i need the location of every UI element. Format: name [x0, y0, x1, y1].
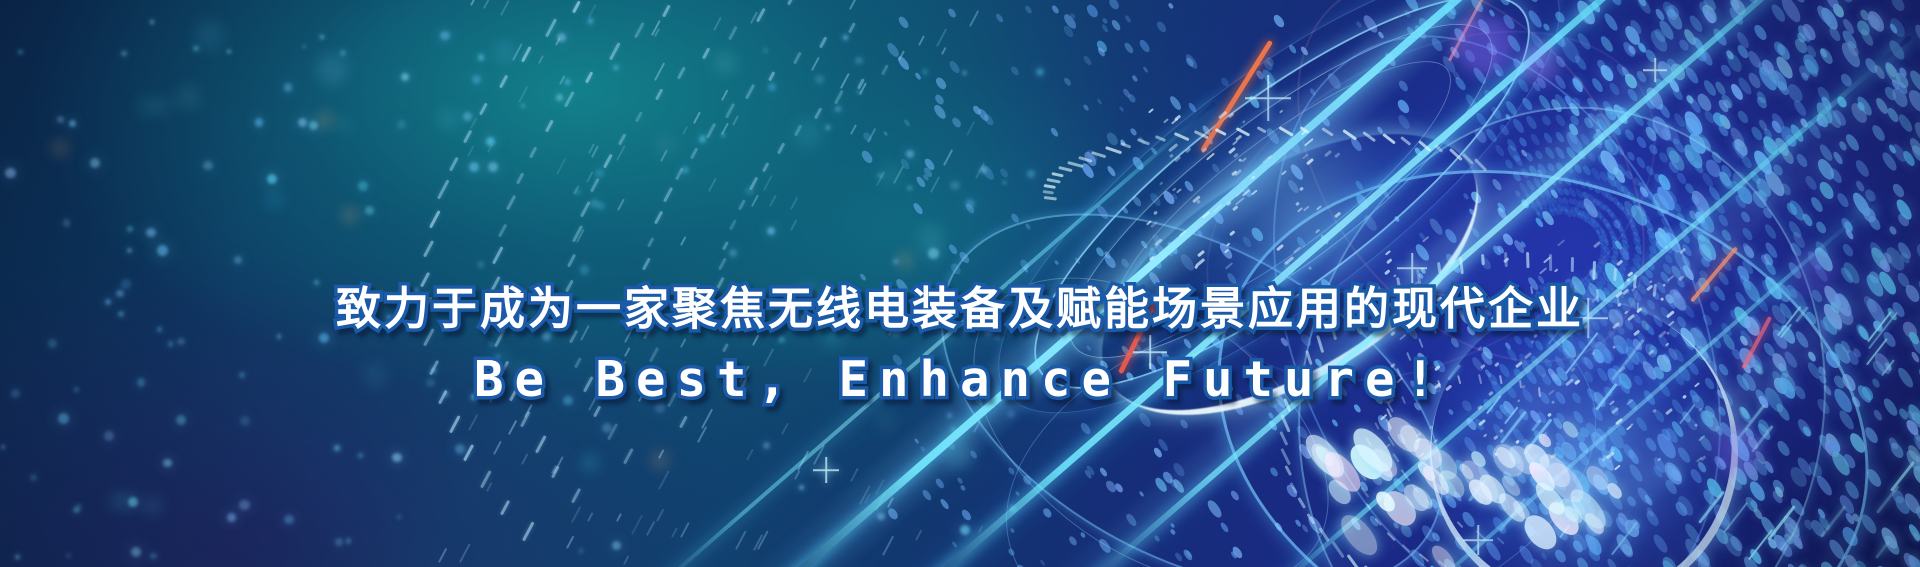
headline-group: 致力于成为一家聚焦无线电装备及赋能场景应用的现代企业 Be Best, Enha…	[0, 286, 1920, 404]
headline-chinese: 致力于成为一家聚焦无线电装备及赋能场景应用的现代企业	[0, 286, 1920, 331]
hero-banner: 致力于成为一家聚焦无线电装备及赋能场景应用的现代企业 Be Best, Enha…	[0, 0, 1920, 567]
headline-english-slogan: Be Best, Enhance Future!	[0, 355, 1920, 404]
